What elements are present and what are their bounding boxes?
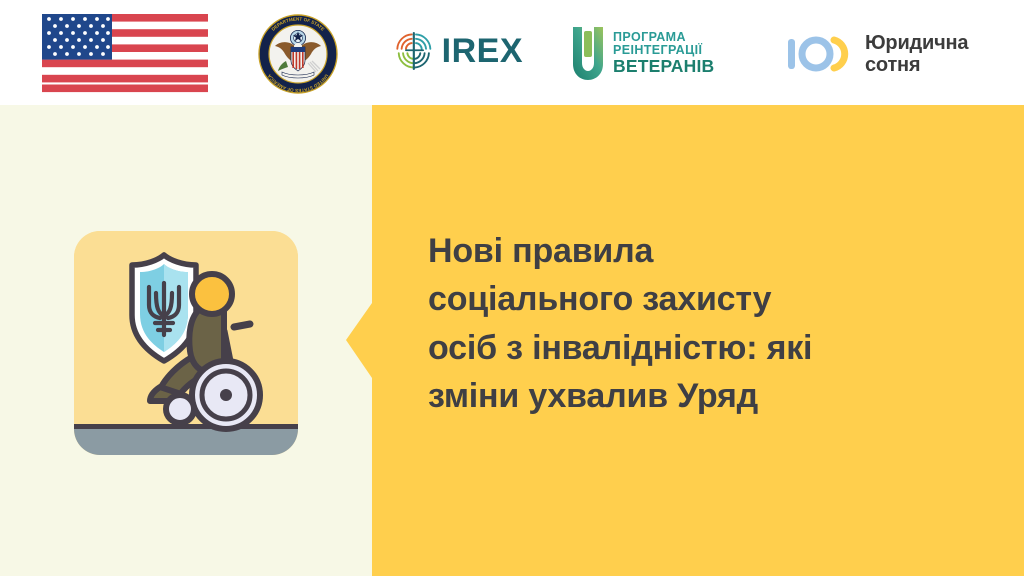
veterans-program-wordmark: ПРОГРАМА РЕІНТЕГРАЦІЇ ВЕТЕРАНІВ (613, 31, 714, 75)
us-department-of-state-seal-logo: DEPARTMENT OF STATE UNITED STATES OF AME… (258, 14, 338, 94)
veterans-reintegration-program-logo: ПРОГРАМА РЕІНТЕГРАЦІЇ ВЕТЕРАНІВ (571, 22, 736, 84)
irex-mark-icon (393, 22, 435, 80)
us-flag-icon (42, 13, 208, 93)
veterans-u-mark-icon (571, 25, 605, 81)
irex-wordmark: IREX (442, 34, 523, 68)
main-banner: Нові правила соціального захисту осіб з … (0, 105, 1024, 576)
disability-social-protection-illustration (74, 231, 298, 455)
us-flag-logo (42, 13, 208, 93)
department-of-state-seal-icon: DEPARTMENT OF STATE UNITED STATES OF AME… (258, 14, 338, 94)
yurydychna-sotnia-line-1: Юридична (865, 32, 968, 54)
page-title: Нові правила соціального захисту осіб з … (428, 227, 898, 420)
slide-canvas: DEPARTMENT OF STATE UNITED STATES OF AME… (0, 0, 1024, 576)
veterans-line-3: ВЕТЕРАНІВ (613, 57, 714, 75)
yurydychna-sotnia-wordmark: Юридична сотня (865, 32, 968, 76)
yurydychna-sotnia-line-2: сотня (865, 54, 968, 76)
yurydychna-sotnia-logo: Юридична сотня (786, 26, 986, 82)
veterans-line-2: РЕІНТЕГРАЦІЇ (613, 44, 714, 57)
irex-logo: IREX (393, 20, 523, 82)
veterans-line-1: ПРОГРАМА (613, 31, 714, 44)
shield-with-tryzub-icon (132, 255, 196, 361)
illustration-card (74, 231, 298, 455)
sponsor-logo-bar: DEPARTMENT OF STATE UNITED STATES OF AME… (0, 0, 1024, 105)
yurydychna-sotnia-mark-icon (786, 36, 854, 72)
